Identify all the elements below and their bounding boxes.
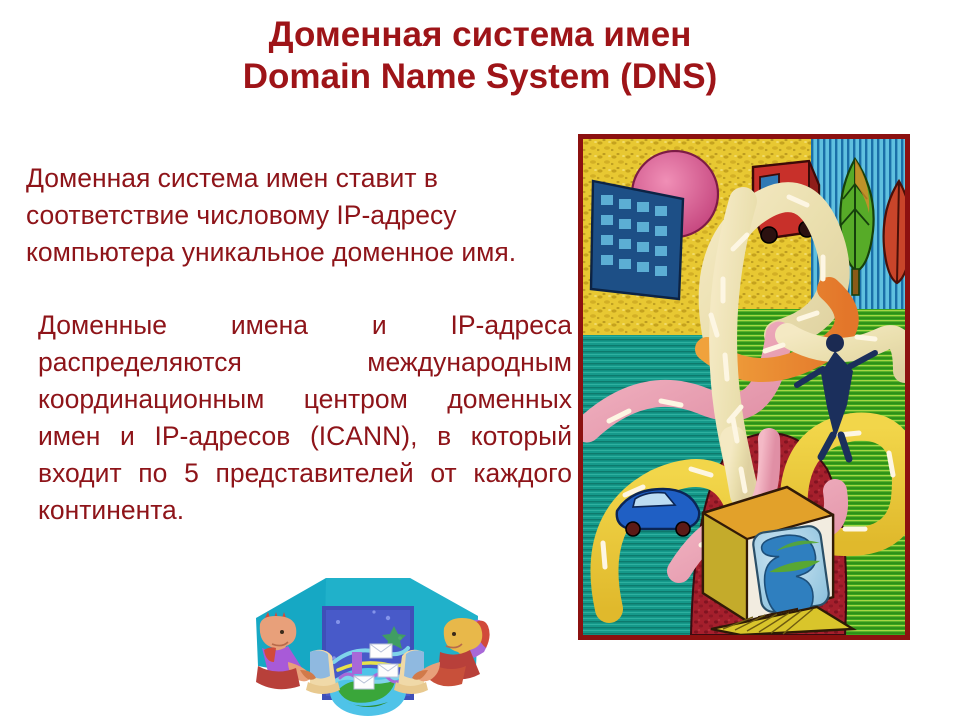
page-title-line-ru: Доменная система имен (0, 14, 960, 56)
artwork-image-frame (578, 134, 910, 640)
paragraph-dns-definition: Доменная система имен ставит в соответст… (26, 160, 572, 271)
page-title-line-en: Domain Name System (DNS) (0, 56, 960, 98)
body-text-column: Доменная система имен ставит в соответст… (26, 133, 572, 592)
clipart-two-users-network (238, 566, 494, 716)
page-title: Доменная система имен Domain Name System… (0, 14, 960, 98)
screen-bar-purple (352, 652, 362, 674)
blue-apartment-building (591, 181, 683, 299)
folk-art-painting (583, 139, 905, 635)
paragraph-icann-distribution: Доменные имена и IP-адреса распределяютс… (26, 307, 572, 566)
network-collaboration-clipart (238, 566, 494, 716)
